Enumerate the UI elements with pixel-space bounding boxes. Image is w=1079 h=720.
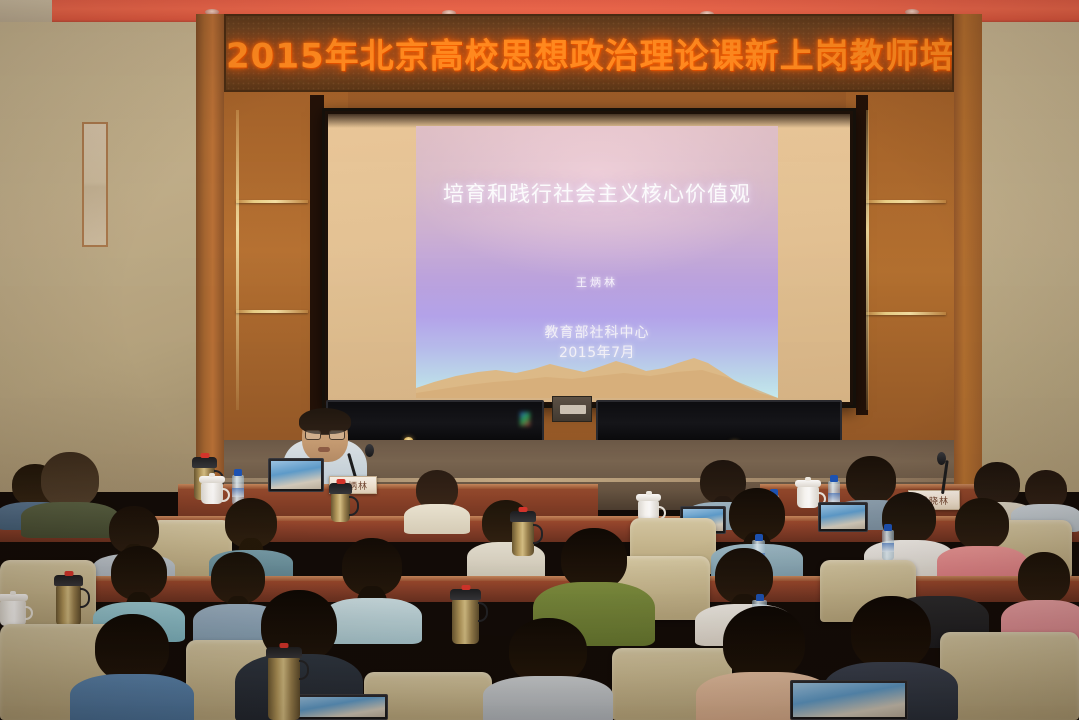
slide-title: 培育和践行社会主义核心价值观 — [416, 178, 778, 208]
slide-author: 王炳林 — [416, 274, 778, 290]
lens-flare — [520, 412, 530, 426]
gold-trim-horizontal-right-lower — [866, 312, 946, 315]
gold-trim-horizontal-left-upper — [236, 200, 308, 203]
gold-trim-vertical-left — [236, 110, 239, 410]
wall-monitor-right — [596, 400, 842, 442]
screen-surface: 培育和践行社会主义核心价值观 王炳林 教育部社科中心 2015年7月 — [328, 114, 850, 402]
wall-monitor-left — [326, 400, 544, 442]
audience-person — [488, 618, 608, 720]
thermos-icon — [512, 520, 534, 556]
thermos-icon — [452, 598, 479, 644]
mug-icon — [797, 486, 819, 508]
audience-person — [406, 470, 468, 526]
microphone-head-icon — [937, 452, 946, 465]
slide-mountain-graphic — [416, 346, 778, 398]
laptop-icon[interactable] — [268, 458, 324, 492]
audience-chair — [940, 632, 1079, 720]
thermos-icon — [331, 492, 350, 522]
right-wall — [980, 22, 1079, 492]
projection-screen: 培育和践行社会主义核心价值观 王炳林 教育部社科中心 2015年7月 — [322, 108, 856, 408]
led-event-banner: 2015年北京高校思想政治理论课新上岗教师培训班 — [224, 14, 954, 92]
gold-trim-vertical-right — [866, 110, 869, 410]
gold-trim-horizontal-right-upper — [866, 200, 946, 203]
laptop-icon[interactable] — [790, 680, 908, 720]
laptop-icon[interactable] — [818, 502, 868, 532]
laptop-screen — [271, 461, 321, 489]
thermos-icon — [268, 656, 300, 720]
projector-mount-box — [552, 396, 592, 422]
led-banner-text: 2015年北京高校思想政治理论课新上岗教师培训班 — [226, 29, 952, 78]
lecture-hall-scene: 2015年北京高校思想政治理论课新上岗教师培训班 培育和践行社会主义核心价值观 … — [0, 0, 1079, 720]
audience-person — [74, 614, 190, 720]
wall-decor-panel — [82, 122, 108, 247]
left-wall — [0, 22, 196, 492]
mug-icon — [0, 600, 26, 626]
right-pillar — [952, 14, 982, 492]
glasses-icon — [304, 430, 346, 440]
slide-organization: 教育部社科中心 — [416, 322, 778, 342]
microphone-head-icon — [365, 444, 374, 457]
speaker-mouth — [318, 447, 330, 452]
projected-slide: 培育和践行社会主义核心价值观 王炳林 教育部社科中心 2015年7月 — [416, 126, 778, 398]
laptop-icon[interactable] — [292, 694, 388, 720]
left-pillar — [196, 14, 224, 492]
gold-trim-horizontal-left-lower — [236, 310, 308, 313]
